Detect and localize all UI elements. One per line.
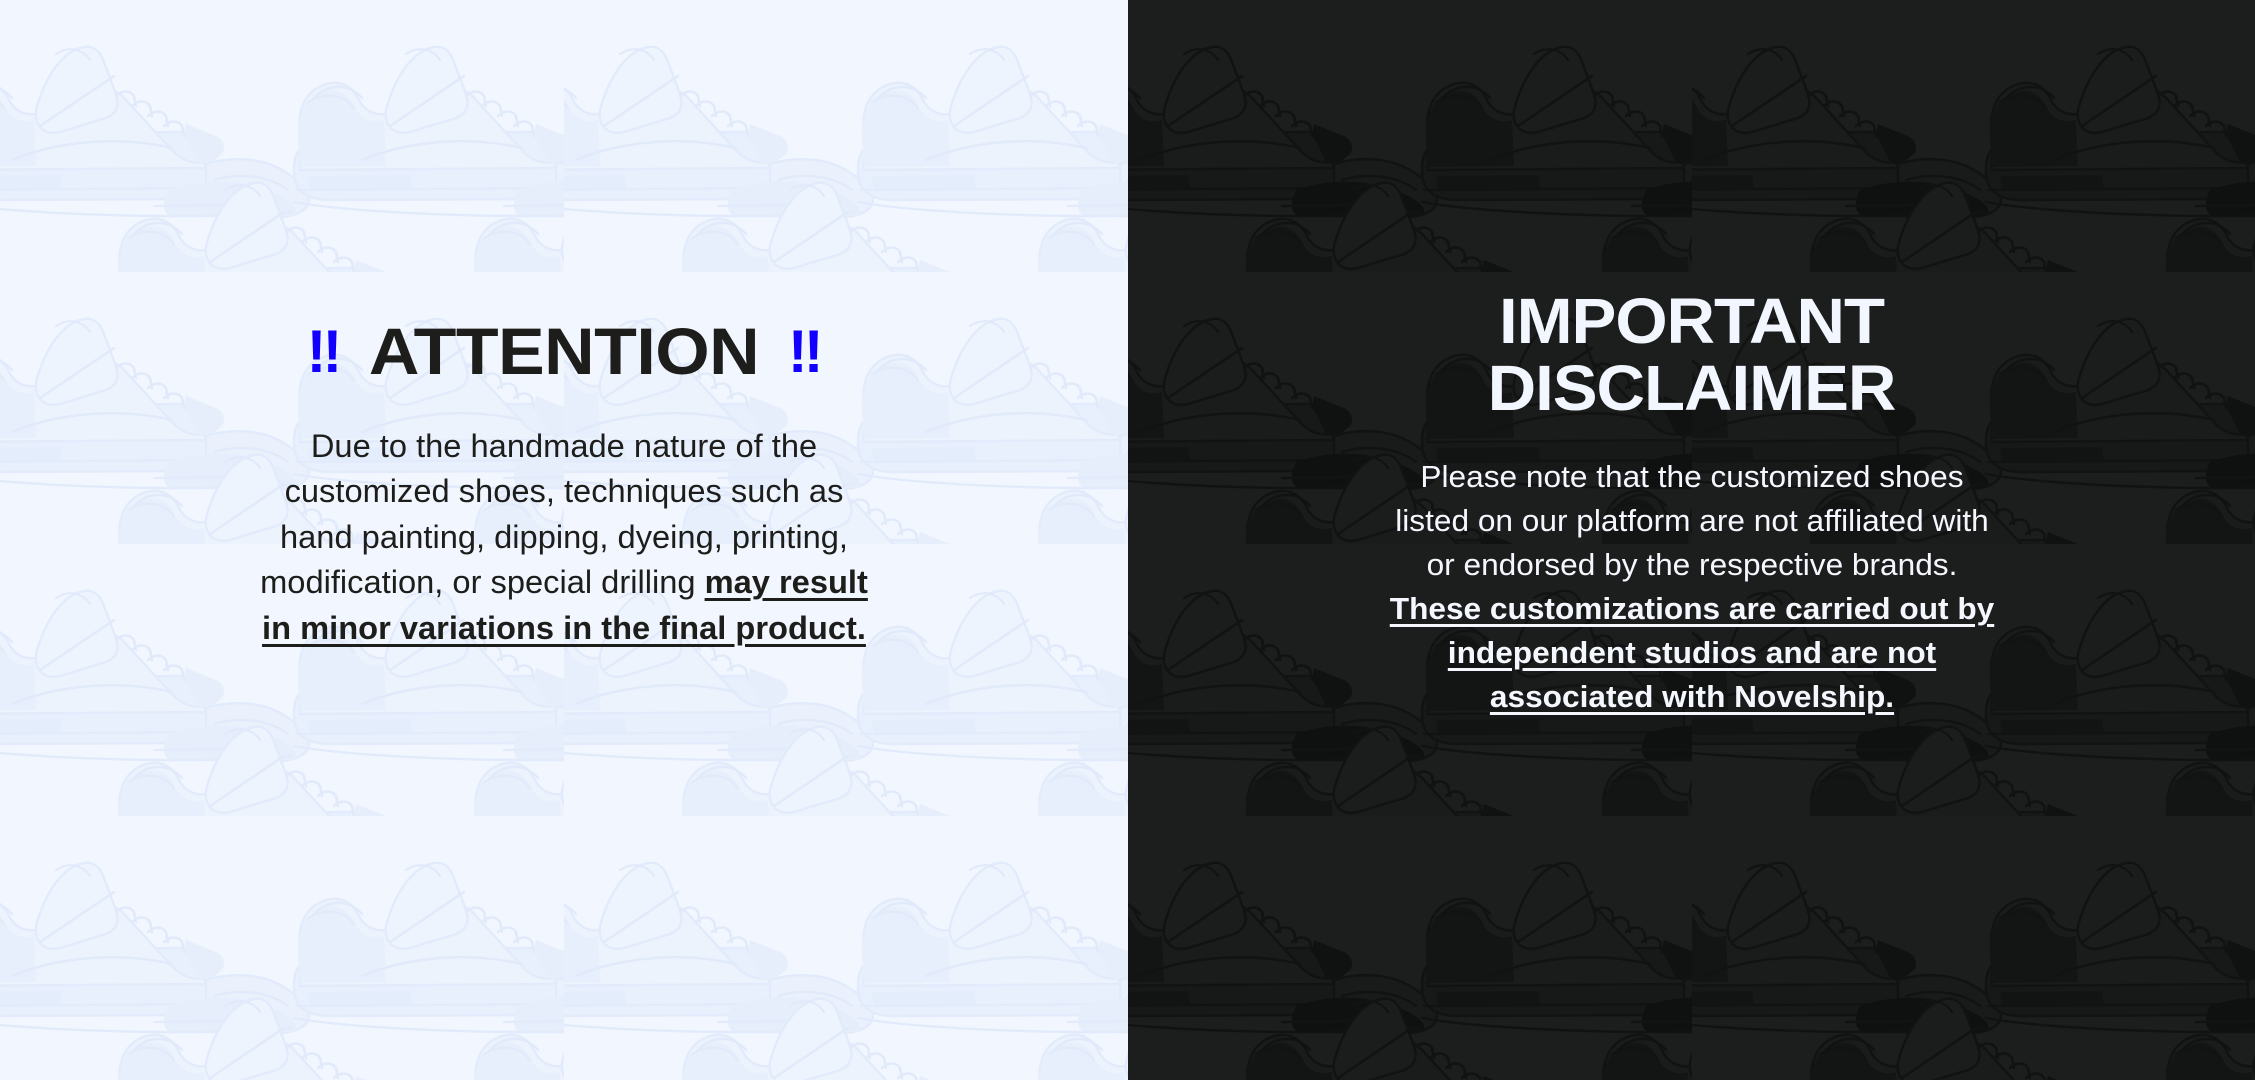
- double-exclamation-left-icon: ‼: [306, 322, 339, 382]
- attention-content: ‼ATTENTION‼ Due to the handmade nature o…: [0, 318, 1128, 651]
- disclaimer-body-emphasis: These customizations are carried out by …: [1389, 591, 1993, 714]
- disclaimer-heading-line2: DISCLAIMER: [1175, 355, 2207, 422]
- disclaimer-banner: ‼ATTENTION‼ Due to the handmade nature o…: [0, 0, 2255, 1080]
- disclaimer-heading: IMPORTANTDISCLAIMER: [1175, 288, 2207, 421]
- disclaimer-panel: IMPORTANTDISCLAIMER Please note that the…: [1128, 0, 2255, 1080]
- attention-panel: ‼ATTENTION‼ Due to the handmade nature o…: [0, 0, 1128, 1080]
- attention-body: Due to the handmade nature of the custom…: [248, 424, 880, 651]
- disclaimer-heading-line1: IMPORTANT: [1175, 288, 2207, 355]
- disclaimer-body-normal: Please note that the customized shoes li…: [1395, 459, 1988, 582]
- disclaimer-body: Please note that the customized shoes li…: [1380, 455, 2002, 719]
- attention-heading-text: ATTENTION: [369, 314, 759, 388]
- double-exclamation-right-icon: ‼: [788, 322, 821, 382]
- attention-heading: ‼ATTENTION‼: [62, 318, 1067, 384]
- disclaimer-content: IMPORTANTDISCLAIMER Please note that the…: [1128, 288, 2255, 719]
